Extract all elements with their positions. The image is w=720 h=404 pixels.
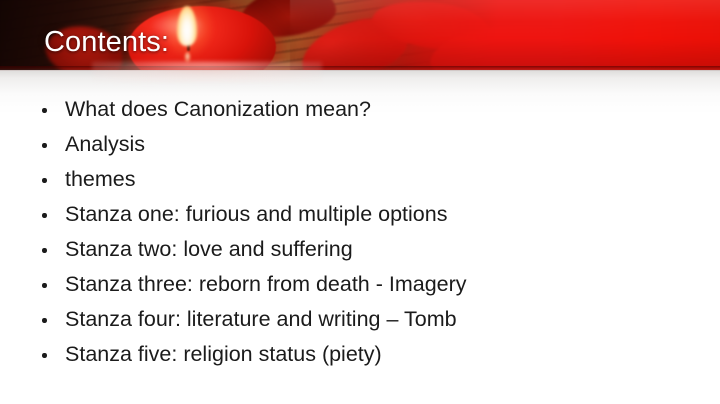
presentation-slide: Contents: What does Canonization mean? A… — [0, 0, 720, 404]
bullet-point-icon — [42, 213, 47, 218]
list-item: Analysis — [0, 127, 720, 162]
bullet-point-icon — [42, 108, 47, 113]
list-item-label: Stanza three: reborn from death - Imager… — [65, 272, 467, 296]
list-item-label: Analysis — [65, 132, 145, 156]
contents-bullet-list: What does Canonization mean? Analysis th… — [0, 92, 720, 372]
list-item-label: What does Canonization mean? — [65, 97, 371, 121]
list-item: Stanza four: literature and writing – To… — [0, 302, 720, 337]
bullet-point-icon — [42, 318, 47, 323]
bullet-point-icon — [42, 143, 47, 148]
bullet-point-icon — [42, 248, 47, 253]
list-item: Stanza three: reborn from death - Imager… — [0, 267, 720, 302]
list-item-label: Stanza five: religion status (piety) — [65, 342, 382, 366]
list-item-label: Stanza four: literature and writing – To… — [65, 307, 457, 331]
list-item: Stanza two: love and suffering — [0, 232, 720, 267]
list-item: What does Canonization mean? — [0, 92, 720, 127]
list-item-label: Stanza one: furious and multiple options — [65, 202, 447, 226]
slide-title: Contents: — [44, 25, 169, 59]
red-field-sheen — [290, 0, 720, 70]
slide-header-banner: Contents: — [0, 0, 720, 70]
candle-light-spill — [92, 62, 322, 82]
list-item: themes — [0, 162, 720, 197]
list-item: Stanza one: furious and multiple options — [0, 197, 720, 232]
bullet-point-icon — [42, 283, 47, 288]
bullet-point-icon — [42, 178, 47, 183]
list-item-label: Stanza two: love and suffering — [65, 237, 353, 261]
bullet-point-icon — [42, 353, 47, 358]
list-item-label: themes — [65, 167, 136, 191]
list-item: Stanza five: religion status (piety) — [0, 337, 720, 372]
